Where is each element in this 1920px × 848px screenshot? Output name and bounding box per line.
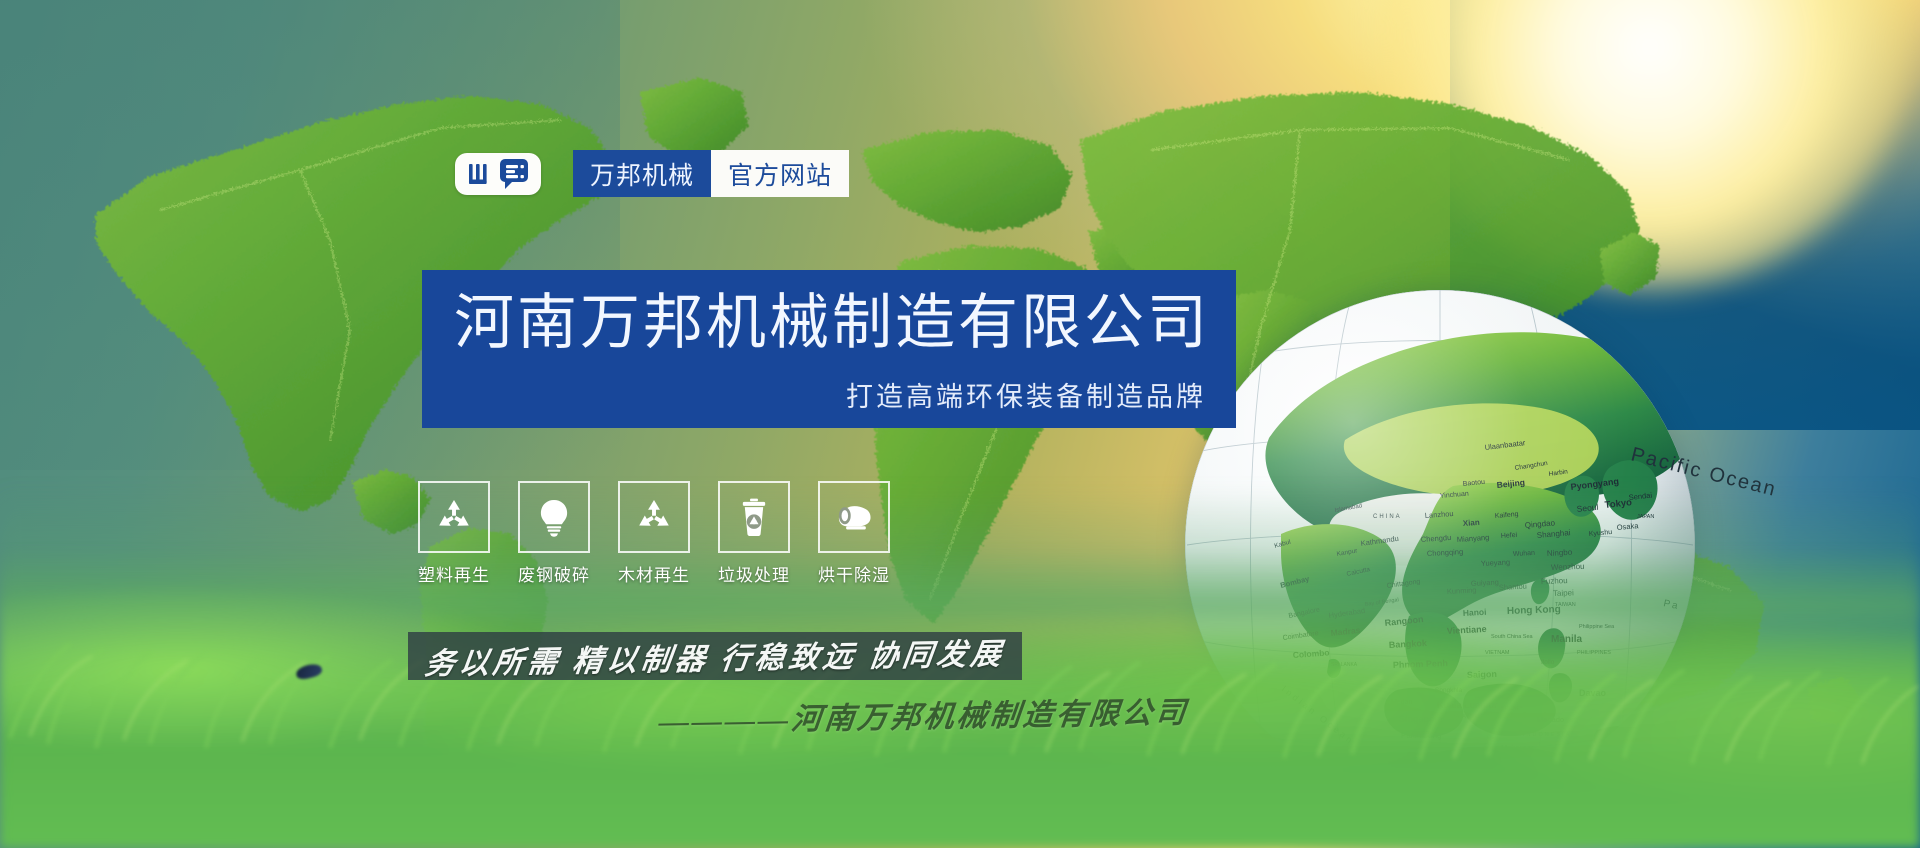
recycle-icon <box>633 496 675 538</box>
site-header: 万邦机械 官方网站 <box>455 150 849 197</box>
service-label: 烘干除湿 <box>818 561 890 586</box>
service-item-plastic-recycling[interactable]: 塑料再生 <box>420 481 488 586</box>
company-tagline: 打造高端环保装备制造品牌 <box>846 375 1206 414</box>
service-item-wood-recycling[interactable]: 木材再生 <box>620 481 688 586</box>
company-banner: 河南万邦机械制造有限公司 打造高端环保装备制造品牌 <box>422 270 1236 428</box>
service-item-waste-treatment[interactable]: 垃圾处理 <box>720 481 788 586</box>
w-logo-icon <box>467 162 495 186</box>
service-icon-box <box>818 481 890 553</box>
service-label: 塑料再生 <box>418 561 490 586</box>
service-item-drying-dehumidifying[interactable]: 烘干除湿 <box>820 481 888 586</box>
dryer-blower-icon <box>833 496 875 538</box>
service-item-scrap-steel-crushing[interactable]: 废钢破碎 <box>520 481 588 586</box>
company-name: 河南万邦机械制造有限公司 <box>454 293 1210 353</box>
service-icon-box <box>618 481 690 553</box>
hero-banner-stage: Ulaanbaatar Beijing Baotou Yinchuan Lanz… <box>0 0 1920 848</box>
service-icon-box <box>518 481 590 553</box>
lightbulb-icon <box>533 496 575 538</box>
service-icon-row: 塑料再生 废钢破碎 <box>420 481 888 586</box>
tab-brand[interactable]: 万邦机械 <box>573 150 711 197</box>
service-label: 废钢破碎 <box>518 561 590 586</box>
service-icon-box <box>718 481 790 553</box>
tab-official-site[interactable]: 官方网站 <box>711 150 849 197</box>
slogan-text: 务以所需 精以制器 行稳致远 协同发展 <box>422 629 1007 683</box>
header-tabs: 万邦机械 官方网站 <box>573 150 849 197</box>
service-label: 木材再生 <box>618 561 690 586</box>
slogan-bar: 务以所需 精以制器 行稳致远 协同发展 <box>408 632 1022 680</box>
logo[interactable] <box>455 153 541 195</box>
b-logo-icon <box>499 158 529 189</box>
slogan-attribution: ————河南万邦机械制造有限公司 <box>657 687 1191 740</box>
service-icon-box <box>418 481 490 553</box>
service-label: 垃圾处理 <box>718 561 790 586</box>
trash-bin-recycle-icon <box>733 496 775 538</box>
recycle-icon <box>433 496 475 538</box>
